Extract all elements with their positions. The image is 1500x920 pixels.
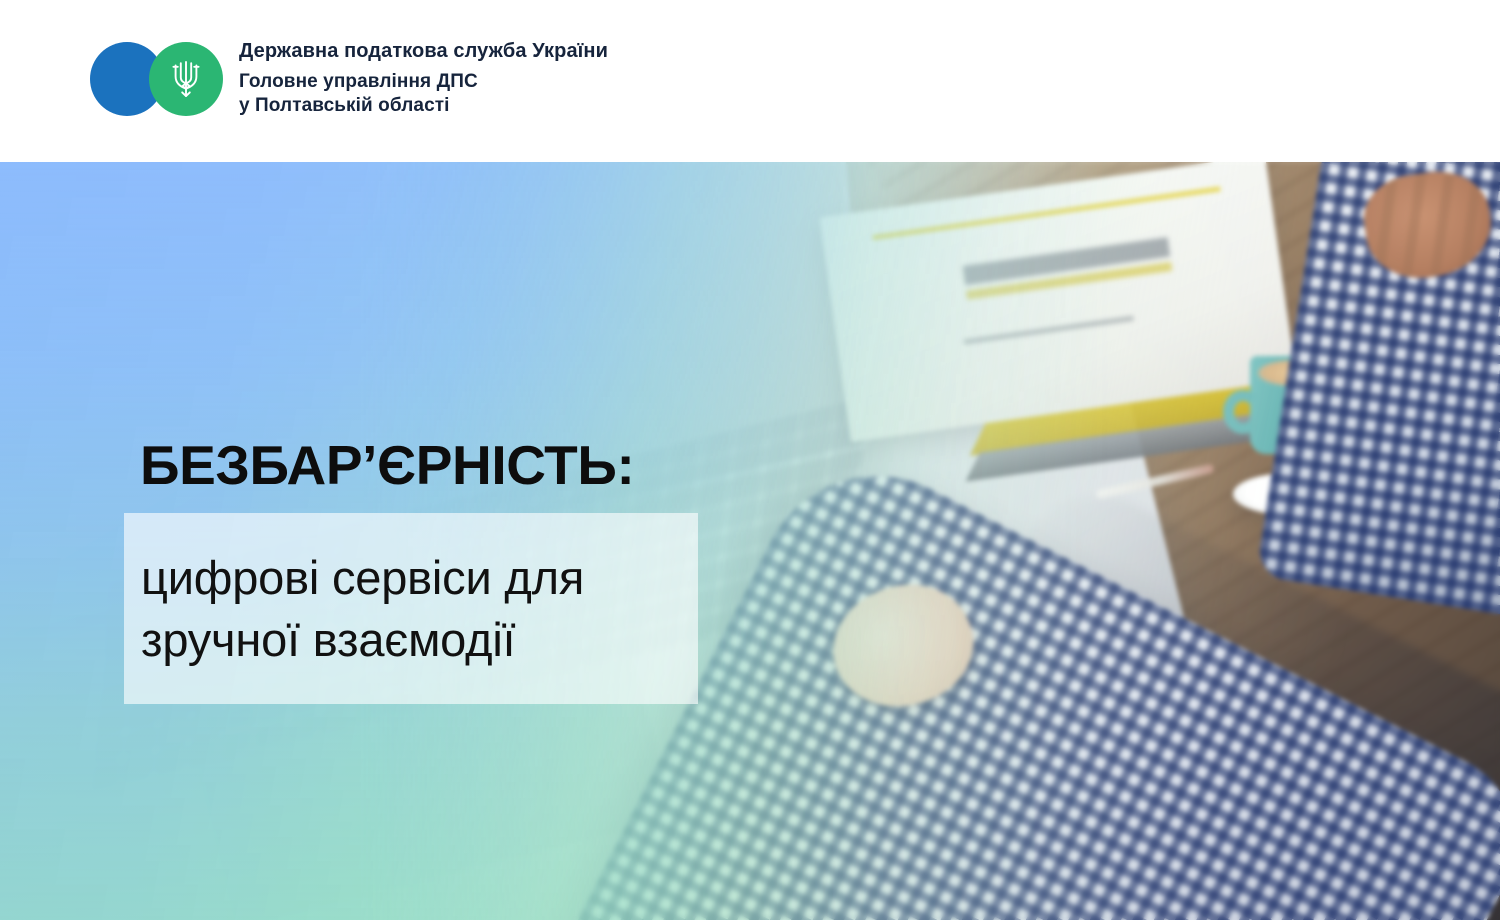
organization-name: Державна податкова служба України Головн… (239, 39, 608, 118)
organization-line-3: у Полтавській області (239, 94, 608, 118)
dps-logo[interactable] (90, 42, 223, 116)
ukrainian-trident-icon (149, 42, 223, 116)
site-header: Державна податкова служба України Головн… (0, 0, 1500, 162)
hero-subtitle-box: цифрові сервіси для зручної взаємодії (124, 513, 698, 704)
brand-lockup[interactable]: Державна податкова служба України Головн… (90, 39, 608, 118)
hero-section: БЕЗБАР’ЄРНІСТЬ: цифрові сервіси для зруч… (0, 162, 1500, 920)
hero-subtitle-line-2: зручної взаємодії (141, 609, 698, 671)
hero-subtitle-line-1: цифрові сервіси для (141, 547, 698, 609)
banner-root: Державна податкова служба України Головн… (0, 0, 1500, 920)
hero-headline: БЕЗБАР’ЄРНІСТЬ: (140, 437, 824, 494)
organization-line-2: Головне управління ДПС (239, 70, 608, 94)
hero-copy: БЕЗБАР’ЄРНІСТЬ: цифрові сервіси для зруч… (124, 437, 824, 704)
hero-subtitle: цифрові сервіси для зручної взаємодії (141, 547, 698, 670)
organization-line-1: Державна податкова служба України (239, 39, 608, 65)
